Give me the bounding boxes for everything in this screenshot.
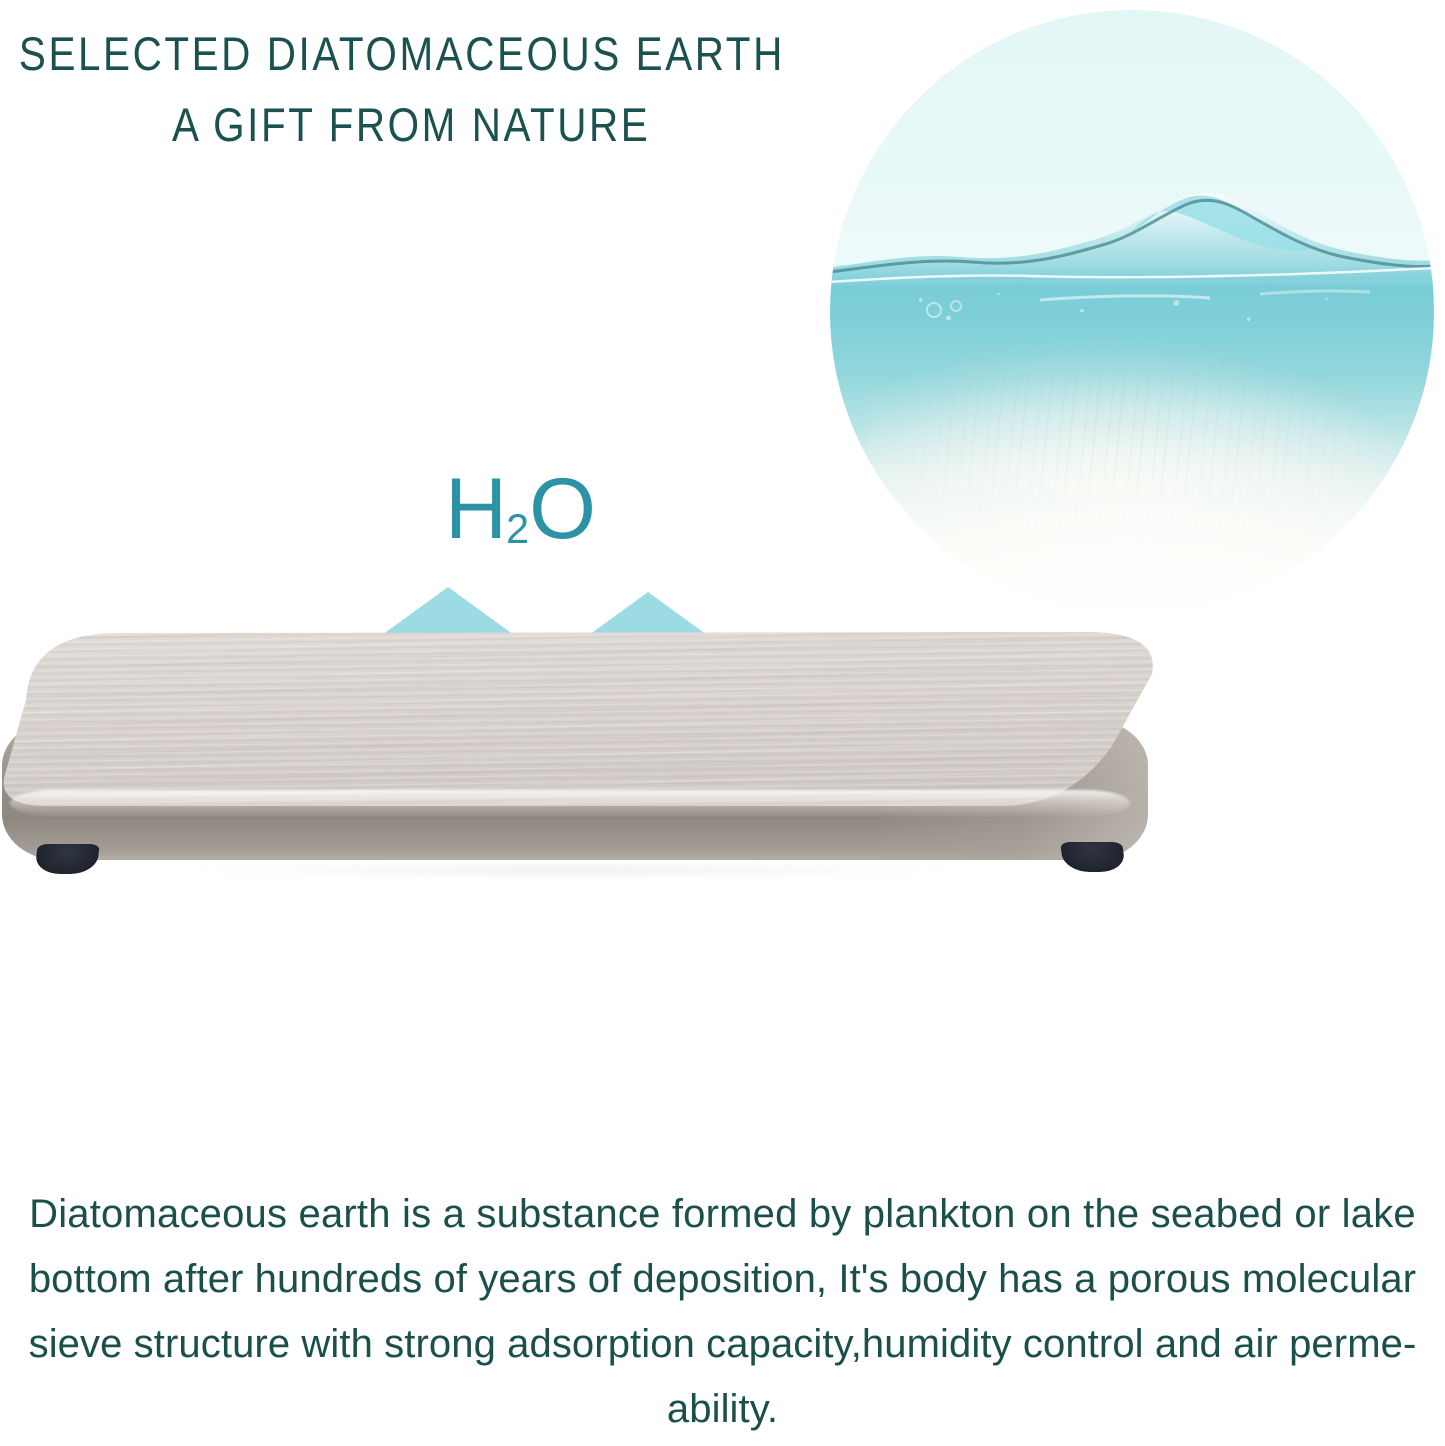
page-title: SELECTED DIATOMACEOUS EARTH A GIFT FROM … bbox=[0, 18, 774, 161]
description-line-2: bottom after hundreds of years of deposi… bbox=[0, 1247, 1445, 1312]
h2o-sub: 2 bbox=[506, 506, 529, 552]
description-line-4: ability. bbox=[0, 1377, 1445, 1442]
contact-shadow bbox=[40, 864, 1100, 880]
product-infographic: SELECTED DIATOMACEOUS EARTH A GIFT FROM … bbox=[0, 0, 1445, 1446]
description-paragraph: Diatomaceous earth is a substance formed… bbox=[0, 1182, 1445, 1442]
h2o-label: H2O bbox=[445, 466, 595, 552]
description-line-3: sieve structure with strong adsorption c… bbox=[0, 1312, 1445, 1377]
h2o-h: H bbox=[445, 461, 506, 557]
water-surface-wave bbox=[830, 10, 1434, 614]
product-image-diatomite-mat bbox=[0, 628, 1175, 880]
board-wood-grain-fine bbox=[0, 628, 1160, 808]
headline-line-1: SELECTED DIATOMACEOUS EARTH bbox=[0, 18, 774, 89]
water-splash-circle-icon bbox=[830, 10, 1434, 614]
h2o-o: O bbox=[529, 461, 595, 557]
headline-line-2: A GIFT FROM NATURE bbox=[0, 89, 774, 160]
board-front-bevel bbox=[10, 790, 1130, 816]
description-line-1: Diatomaceous earth is a substance formed… bbox=[0, 1182, 1445, 1247]
